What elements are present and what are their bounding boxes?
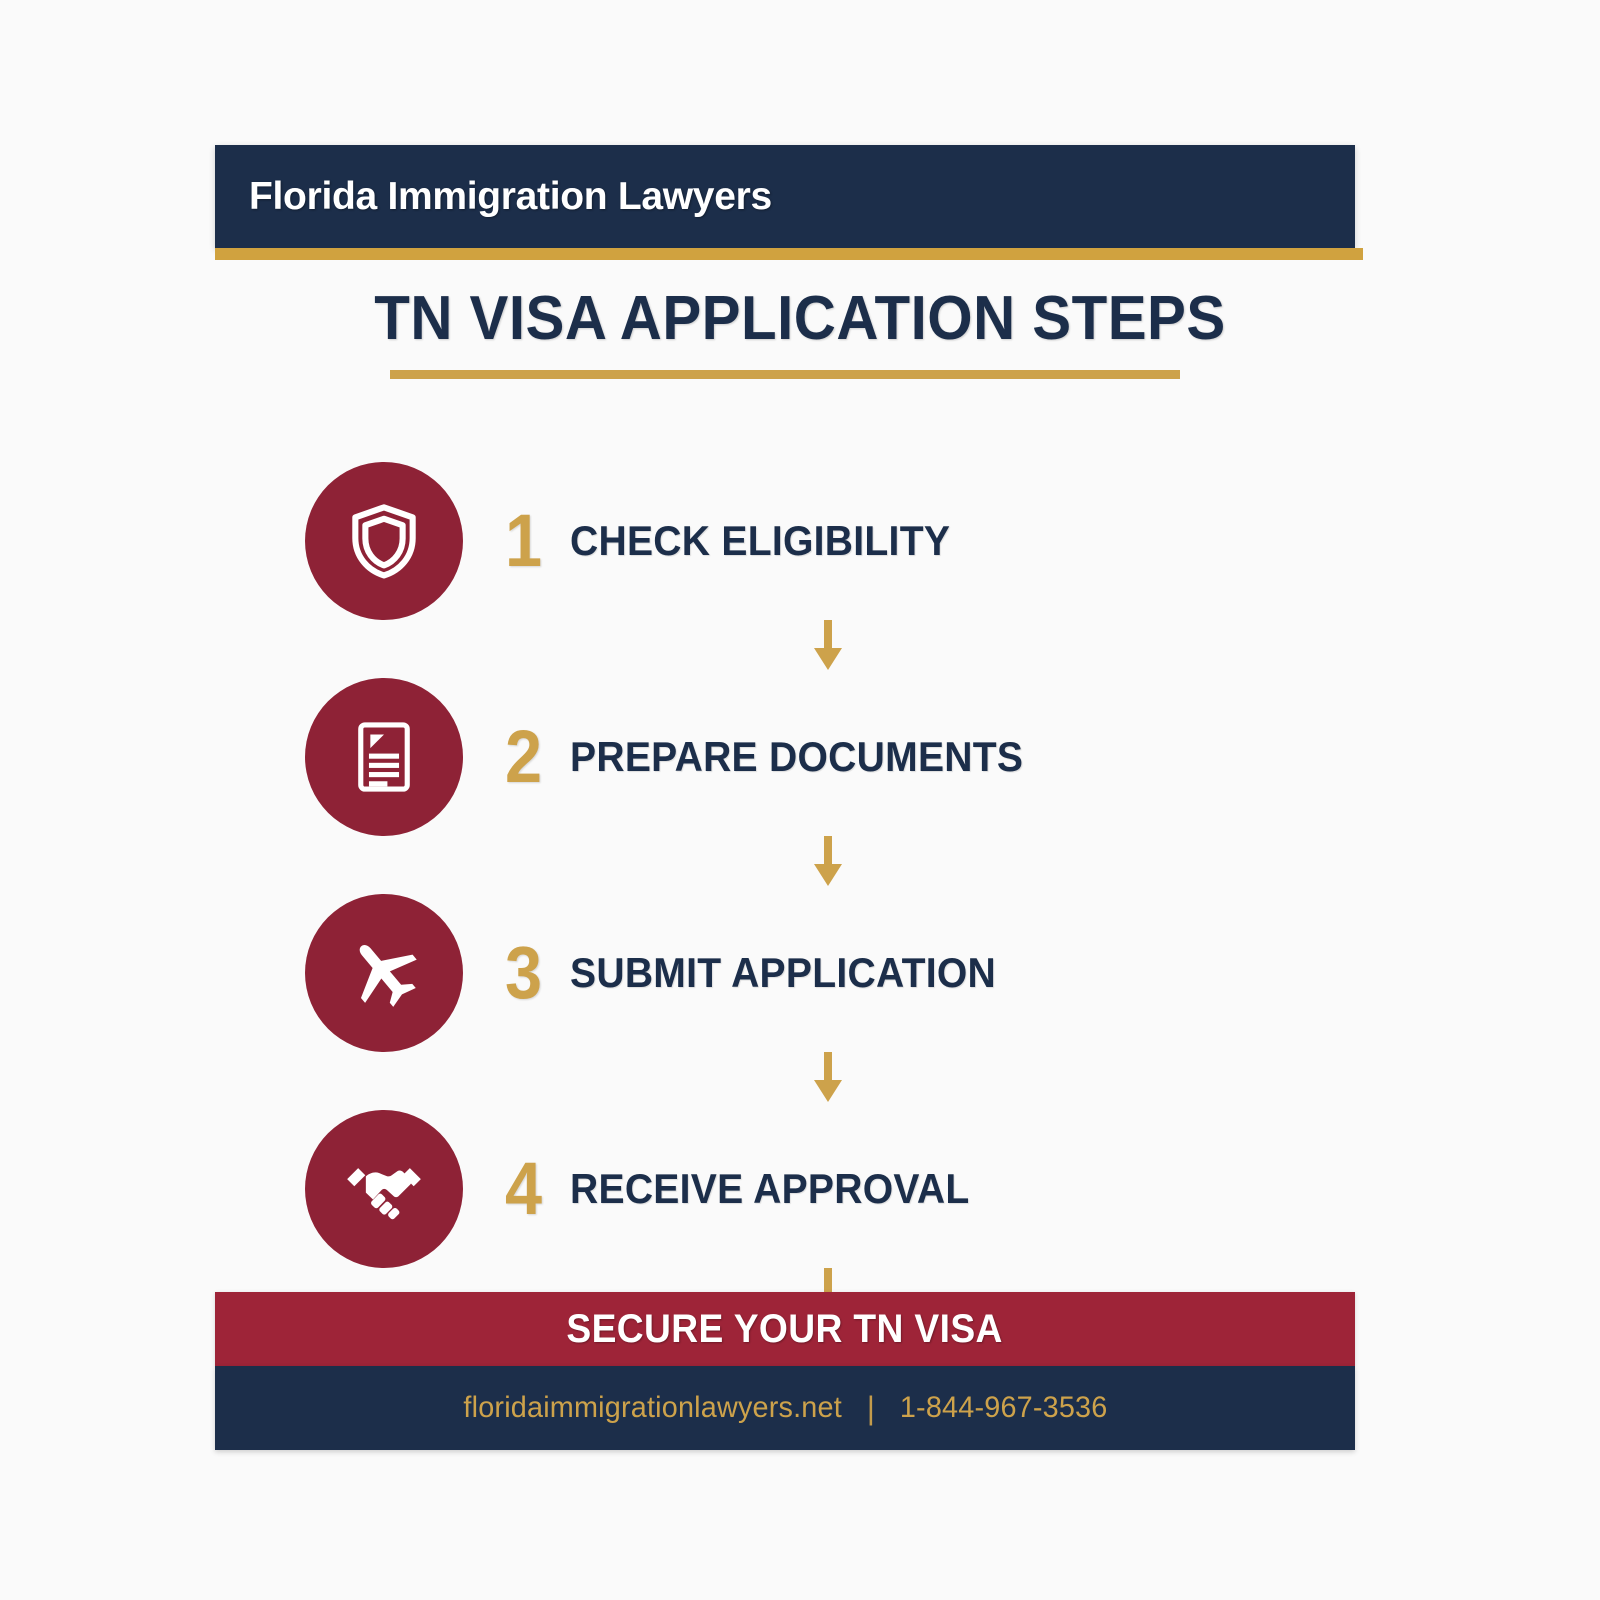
cta-text: SECURE YOUR TN VISA bbox=[567, 1307, 1003, 1352]
cta-banner[interactable]: SECURE YOUR TN VISA bbox=[215, 1292, 1355, 1366]
step-label-3: SUBMIT APPLICATION bbox=[570, 949, 996, 997]
step-item-1: 1 CHECK ELIGIBILITY bbox=[0, 462, 1600, 620]
contact-separator: | bbox=[866, 1392, 874, 1424]
phone-link[interactable]: 1-844-967-3536 bbox=[899, 1391, 1107, 1425]
arrow-down-icon bbox=[809, 836, 847, 894]
handshake-icon bbox=[340, 1145, 428, 1233]
title-underline-rule bbox=[390, 370, 1180, 379]
arrow-down-icon bbox=[809, 1052, 847, 1110]
step-item-3: 3 SUBMIT APPLICATION bbox=[0, 894, 1600, 1052]
step-number-3: 3 bbox=[505, 936, 542, 1010]
steps-list: 1 CHECK ELIGIBILITY bbox=[0, 462, 1600, 1268]
page-title: TN VISA APPLICATION STEPS bbox=[48, 283, 1552, 354]
connector-arrow-3 bbox=[0, 1052, 1600, 1110]
step-icon-badge-3 bbox=[305, 894, 463, 1052]
step-label-2: PREPARE DOCUMENTS bbox=[570, 733, 1023, 781]
contact-footer-bar: floridaimmigrationlawyers.net | 1-844-96… bbox=[215, 1366, 1355, 1450]
brand-header-bar: Florida Immigration Lawyers bbox=[215, 145, 1355, 248]
step-number-2: 2 bbox=[505, 720, 542, 794]
brand-underline-rule bbox=[215, 248, 1363, 260]
contact-group: floridaimmigrationlawyers.net | 1-844-96… bbox=[463, 1391, 1107, 1425]
airplane-icon bbox=[341, 930, 427, 1016]
arrow-down-icon bbox=[809, 620, 847, 678]
connector-arrow-1 bbox=[0, 620, 1600, 678]
step-item-2: 2 PREPARE DOCUMENTS bbox=[0, 678, 1600, 836]
step-icon-badge-4 bbox=[305, 1110, 463, 1268]
step-icon-badge-2 bbox=[305, 678, 463, 836]
step-label-4: RECEIVE APPROVAL bbox=[570, 1165, 969, 1213]
brand-name: Florida Immigration Lawyers bbox=[249, 175, 772, 219]
infographic-canvas: Florida Immigration Lawyers TN VISA APPL… bbox=[0, 0, 1600, 1600]
step-item-4: 4 RECEIVE APPROVAL bbox=[0, 1110, 1600, 1268]
step-icon-badge-1 bbox=[305, 462, 463, 620]
connector-arrow-2 bbox=[0, 836, 1600, 894]
step-number-4: 4 bbox=[505, 1152, 542, 1226]
shield-icon bbox=[341, 498, 427, 584]
document-icon bbox=[343, 716, 425, 798]
step-number-1: 1 bbox=[505, 504, 542, 578]
step-label-1: CHECK ELIGIBILITY bbox=[570, 517, 950, 565]
website-link[interactable]: floridaimmigrationlawyers.net bbox=[463, 1391, 842, 1425]
